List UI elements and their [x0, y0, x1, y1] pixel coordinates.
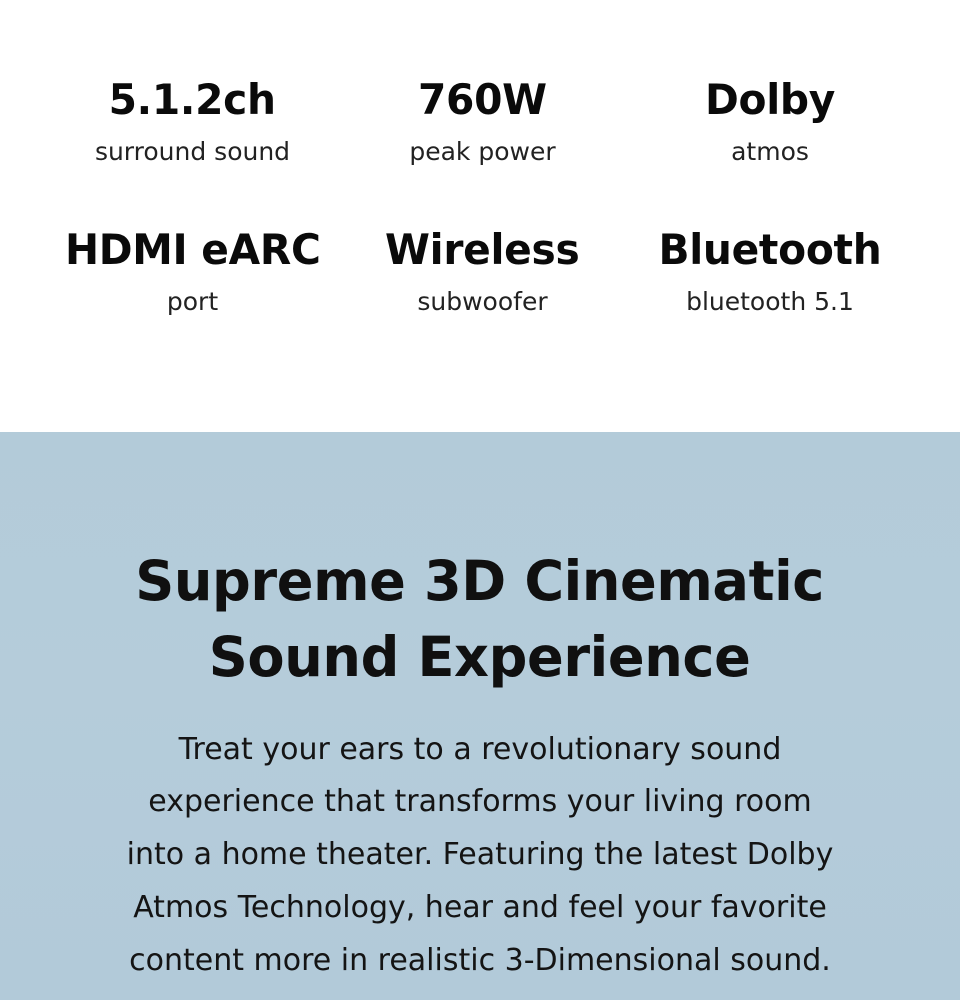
hero-description-line-4: Atmos Technology, hear and feel your fav… — [127, 882, 834, 935]
spec-item-peak-power: 760W peak power — [385, 78, 580, 228]
spec-item-bluetooth: Bluetooth bluetooth 5.1 — [580, 228, 960, 378]
hero-description-line-2: experience that transforms your living r… — [127, 776, 834, 829]
spec-label: bluetooth 5.1 — [686, 288, 854, 316]
hero-section: Supreme 3D Cinematic Sound Experience Tr… — [0, 432, 960, 1000]
specs-grid: 5.1.2ch surround sound 760W peak power D… — [0, 0, 960, 378]
spec-value: Bluetooth — [659, 228, 882, 272]
spec-label: atmos — [731, 138, 809, 166]
spec-item-surround-sound: 5.1.2ch surround sound — [0, 78, 385, 228]
spec-value: 760W — [418, 78, 547, 122]
spec-label: peak power — [409, 138, 555, 166]
hero-title-line-2: Sound Experience — [136, 620, 825, 696]
spec-label: port — [167, 288, 218, 316]
spec-label: surround sound — [95, 138, 290, 166]
spec-value: 5.1.2ch — [109, 78, 276, 122]
specs-section: 5.1.2ch surround sound 760W peak power D… — [0, 0, 960, 432]
spec-item-wireless-subwoofer: Wireless subwoofer — [385, 228, 580, 378]
spec-value: HDMI eARC — [65, 228, 321, 272]
hero-title: Supreme 3D Cinematic Sound Experience — [136, 432, 825, 696]
spec-item-hdmi-earc: HDMI eARC port — [0, 228, 385, 378]
spec-item-dolby-atmos: Dolby atmos — [580, 78, 960, 228]
hero-description-line-5: content more in realistic 3-Dimensional … — [127, 935, 834, 988]
hero-description-line-1: Treat your ears to a revolutionary sound — [127, 724, 834, 777]
spec-value: Dolby — [705, 78, 835, 122]
spec-value: Wireless — [385, 228, 579, 272]
hero-description: Treat your ears to a revolutionary sound… — [127, 696, 834, 988]
hero-title-line-1: Supreme 3D Cinematic — [136, 544, 825, 620]
hero-description-line-3: into a home theater. Featuring the lates… — [127, 829, 834, 882]
product-detail-page: 5.1.2ch surround sound 760W peak power D… — [0, 0, 960, 1000]
spec-label: subwoofer — [417, 288, 547, 316]
